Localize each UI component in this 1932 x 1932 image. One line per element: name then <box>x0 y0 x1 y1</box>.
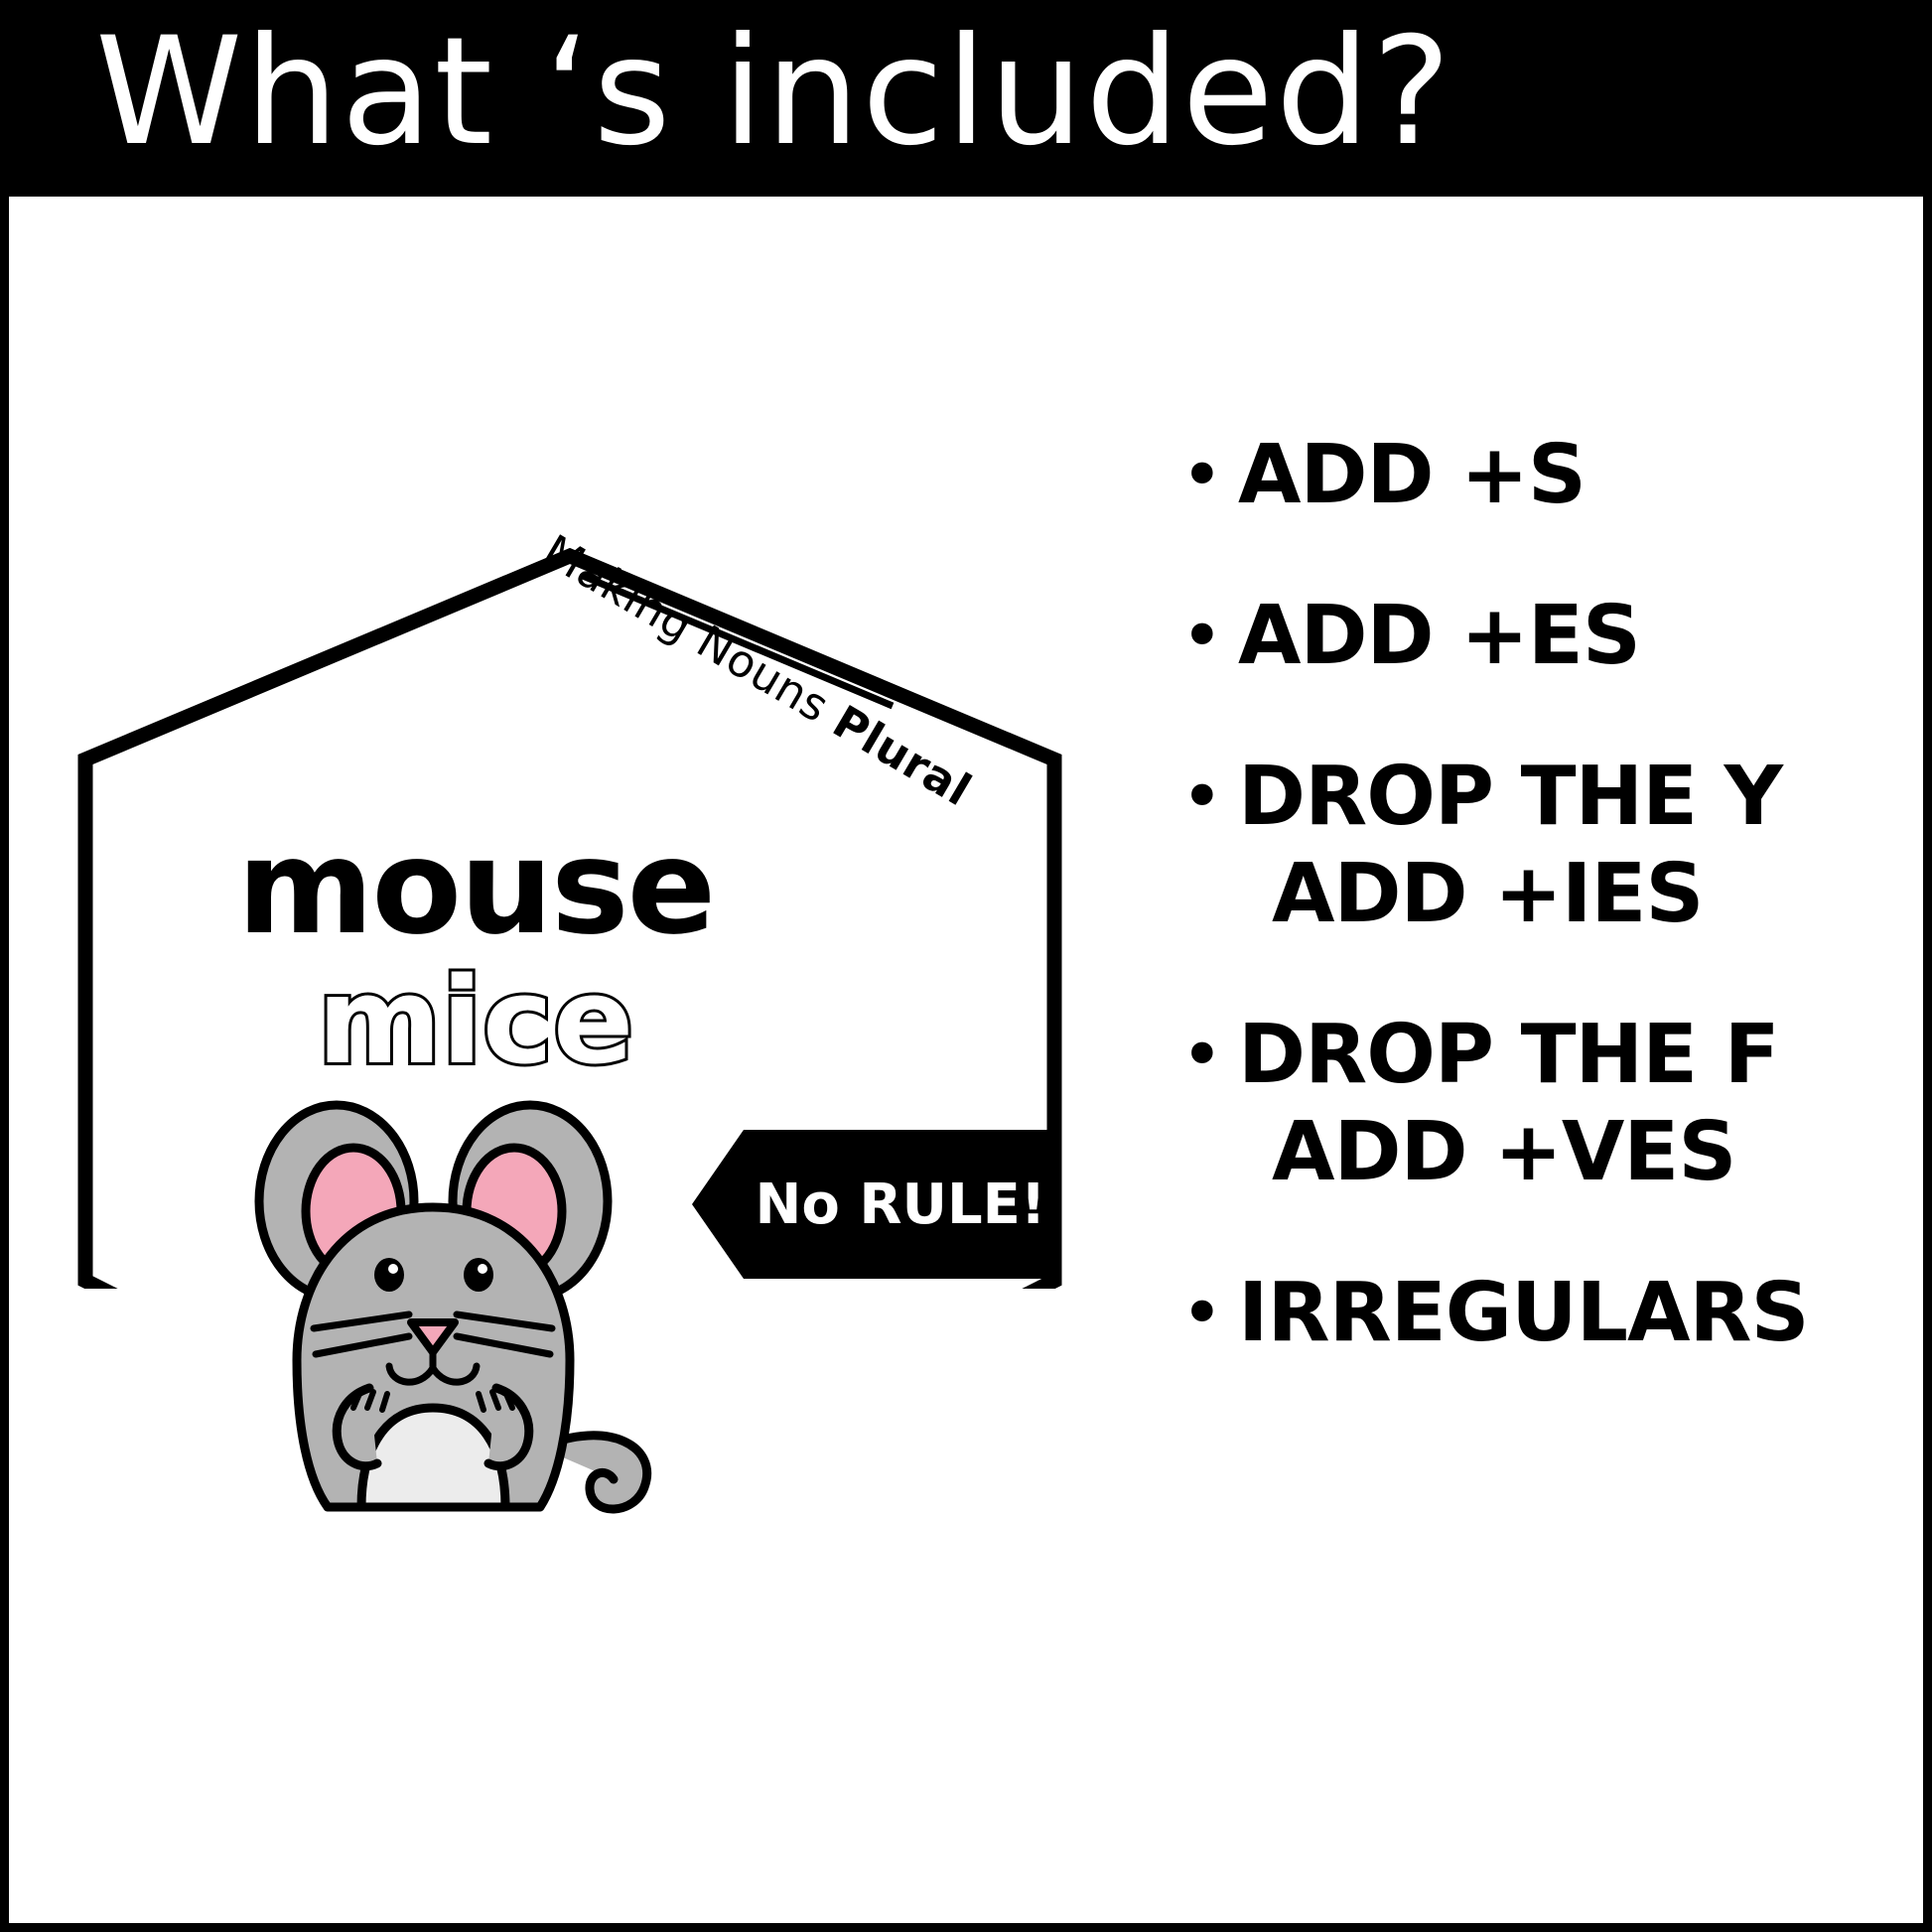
list-item-text: DROP THE Y ADD +IES <box>1238 749 1905 943</box>
list-item-text: DROP THE F ADD +VES <box>1238 1007 1905 1201</box>
list-item-line: ADD +VES <box>1238 1104 1905 1201</box>
no-rule-banner-shape <box>692 1130 1057 1279</box>
list-item-line: DROP THE F <box>1238 1007 1905 1104</box>
included-items-list: • ADD +S • ADD +ES • DROP THE Y ADD +IES… <box>1180 427 1905 1426</box>
list-item-line: ADD +S <box>1238 427 1905 524</box>
mouse-right-eye <box>464 1258 493 1292</box>
list-item: • IRREGULARS <box>1180 1265 1905 1362</box>
list-item-text: IRREGULARS <box>1238 1265 1905 1362</box>
list-item: • ADD +S <box>1180 427 1905 524</box>
product-preview-page: What ‘s included? Making Nouns Plural mo… <box>0 0 1932 1932</box>
list-item: • DROP THE Y ADD +IES <box>1180 749 1905 943</box>
list-item-text: ADD +S <box>1238 427 1905 524</box>
header-bar: What ‘s included? <box>0 0 1932 197</box>
bullet-icon: • <box>1180 588 1238 685</box>
singular-word: mouse <box>69 822 883 953</box>
mouse-right-eye-glint <box>478 1264 487 1274</box>
list-item-line: IRREGULARS <box>1238 1265 1905 1362</box>
page-title: What ‘s included? <box>95 0 1453 191</box>
plural-word: mice <box>69 963 883 1082</box>
mouse-left-eye-glint <box>388 1264 398 1274</box>
bullet-icon: • <box>1180 1265 1238 1362</box>
list-item-line: ADD +IES <box>1238 846 1905 943</box>
mouse-left-eye <box>374 1258 404 1292</box>
list-item: • ADD +ES <box>1180 588 1905 685</box>
banner-arrow-shape <box>692 1130 1057 1279</box>
list-item-text: ADD +ES <box>1238 588 1905 685</box>
bullet-icon: • <box>1180 427 1238 524</box>
list-item-line: DROP THE Y <box>1238 749 1905 846</box>
list-item-line: ADD +ES <box>1238 588 1905 685</box>
list-item: • DROP THE F ADD +VES <box>1180 1007 1905 1201</box>
no-rule-banner: No RULE! <box>692 1130 1057 1279</box>
bullet-icon: • <box>1180 749 1238 846</box>
bullet-icon: • <box>1180 1007 1238 1104</box>
mouse-clipart <box>242 1090 669 1547</box>
